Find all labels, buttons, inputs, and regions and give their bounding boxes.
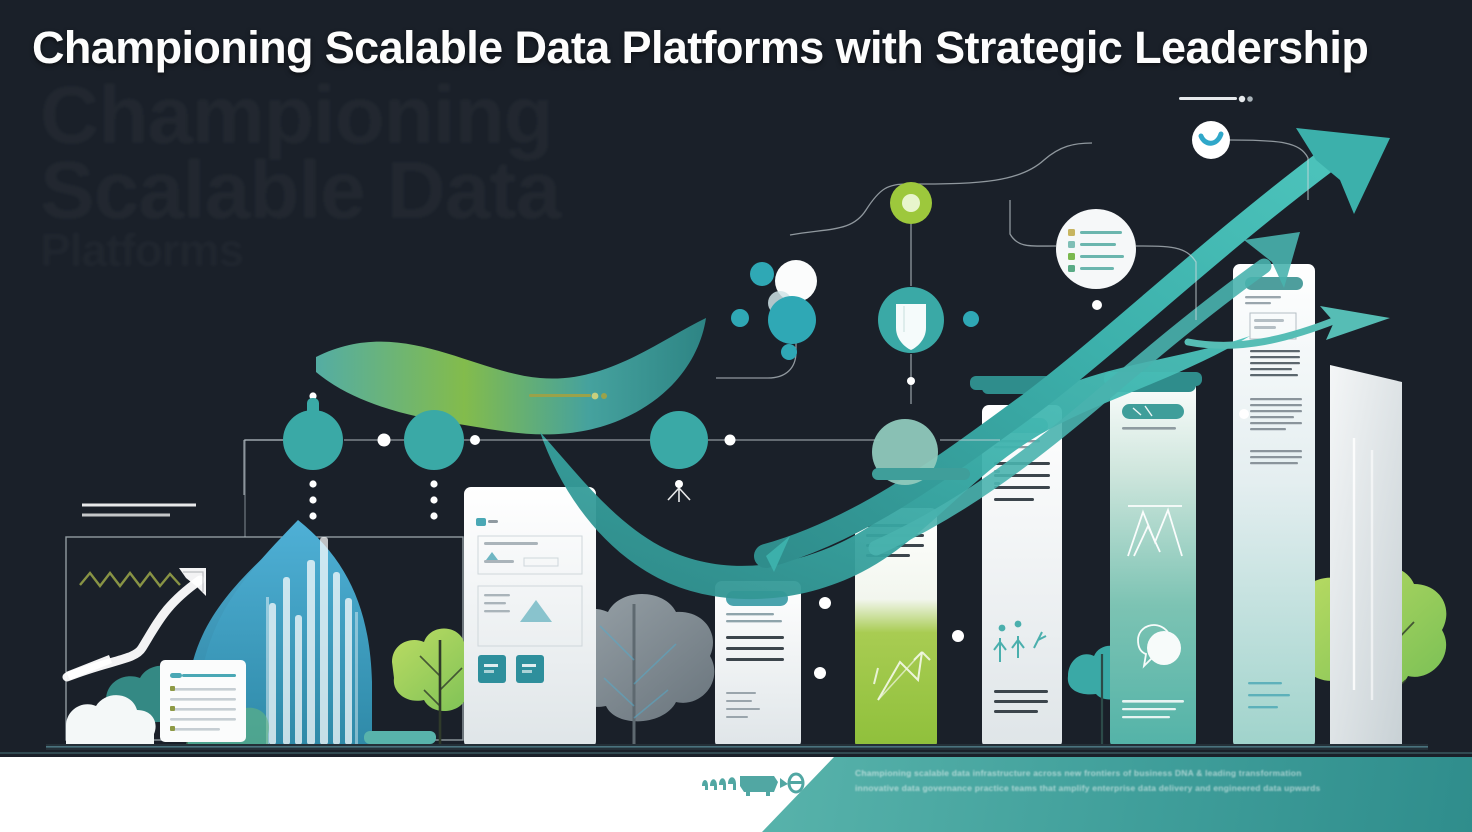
node-circle-5[interactable] bbox=[890, 182, 932, 224]
document-card-left bbox=[160, 660, 246, 742]
illustration bbox=[0, 0, 1472, 760]
footer-tagline: Championing scalable data infrastructure… bbox=[855, 766, 1435, 796]
footer-tagline-line-1: Championing scalable data infrastructure… bbox=[855, 766, 1435, 781]
node-circle-1[interactable] bbox=[283, 398, 343, 470]
node-circle-2[interactable] bbox=[404, 410, 464, 470]
bar-card-7 bbox=[1330, 365, 1402, 748]
footer-divider bbox=[0, 752, 1472, 754]
bar-card-5 bbox=[1110, 374, 1196, 748]
olive-zigzag-line bbox=[80, 573, 180, 586]
slider-white[interactable] bbox=[1179, 96, 1253, 102]
bar-card-2 bbox=[715, 581, 801, 748]
page-title: Championing Scalable Data Platforms with… bbox=[32, 22, 1452, 74]
hero-banner: Championing Scalable Data Platforms bbox=[0, 0, 1472, 832]
footer-tagline-line-2: innovative data governance practice team… bbox=[855, 781, 1435, 796]
chart-baseline bbox=[46, 744, 1428, 750]
bar-card-1 bbox=[464, 487, 596, 748]
node-circle-7[interactable] bbox=[1192, 121, 1230, 159]
node-circle-3[interactable] bbox=[650, 411, 708, 502]
node-circle-6[interactable] bbox=[1056, 209, 1136, 289]
company-logo[interactable] bbox=[700, 766, 810, 798]
node-circle-4[interactable] bbox=[878, 287, 944, 353]
